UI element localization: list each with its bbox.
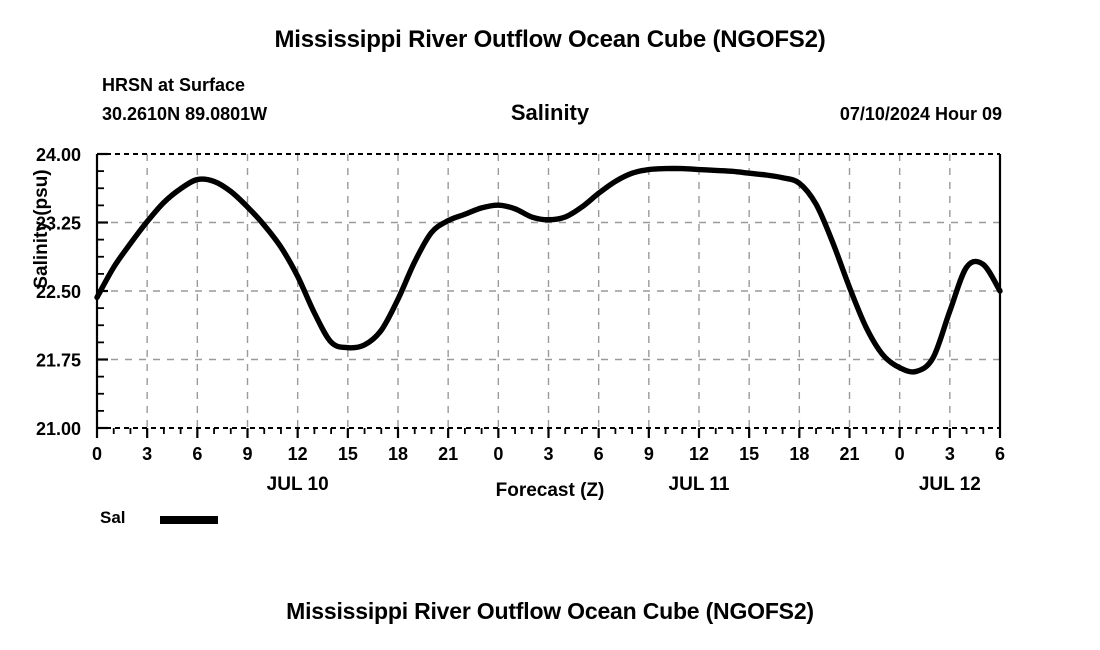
x-axis-tick-label: 6 (995, 444, 1005, 464)
y-axis-tick-label: 21.75 (36, 351, 81, 371)
x-axis-tick-label: 3 (142, 444, 152, 464)
x-axis-tick-label: 3 (945, 444, 955, 464)
x-axis-tick-label: 18 (789, 444, 809, 464)
x-axis-tick-label: 12 (288, 444, 308, 464)
y-axis-title: Salinity (psu) (31, 149, 53, 309)
x-axis-tick-label: 0 (493, 444, 503, 464)
salinity-line-chart: 21.0021.7522.5023.2524.00036912151821036… (0, 0, 1100, 650)
x-axis-tick-label: 0 (895, 444, 905, 464)
x-axis-tick-label: 15 (338, 444, 358, 464)
footer-title: Mississippi River Outflow Ocean Cube (NG… (0, 598, 1100, 625)
x-axis-tick-label: 12 (689, 444, 709, 464)
x-axis-tick-label: 3 (543, 444, 553, 464)
legend-swatch (160, 516, 218, 524)
x-axis-tick-label: 9 (242, 444, 252, 464)
x-axis-tick-label: 21 (839, 444, 859, 464)
legend-label: Sal (100, 508, 126, 528)
x-axis-tick-label: 0 (92, 444, 102, 464)
x-axis-tick-label: 6 (594, 444, 604, 464)
x-axis-tick-label: 21 (438, 444, 458, 464)
x-axis-tick-label: 9 (644, 444, 654, 464)
chart-page: Mississippi River Outflow Ocean Cube (NG… (0, 0, 1100, 650)
y-axis-tick-label: 21.00 (36, 419, 81, 439)
x-axis-tick-label: 6 (192, 444, 202, 464)
x-axis-tick-label: 15 (739, 444, 759, 464)
plot-area: 21.0021.7522.5023.2524.00036912151821036… (0, 0, 1100, 650)
x-axis-title: Forecast (Z) (0, 480, 1100, 502)
x-axis-tick-label: 18 (388, 444, 408, 464)
